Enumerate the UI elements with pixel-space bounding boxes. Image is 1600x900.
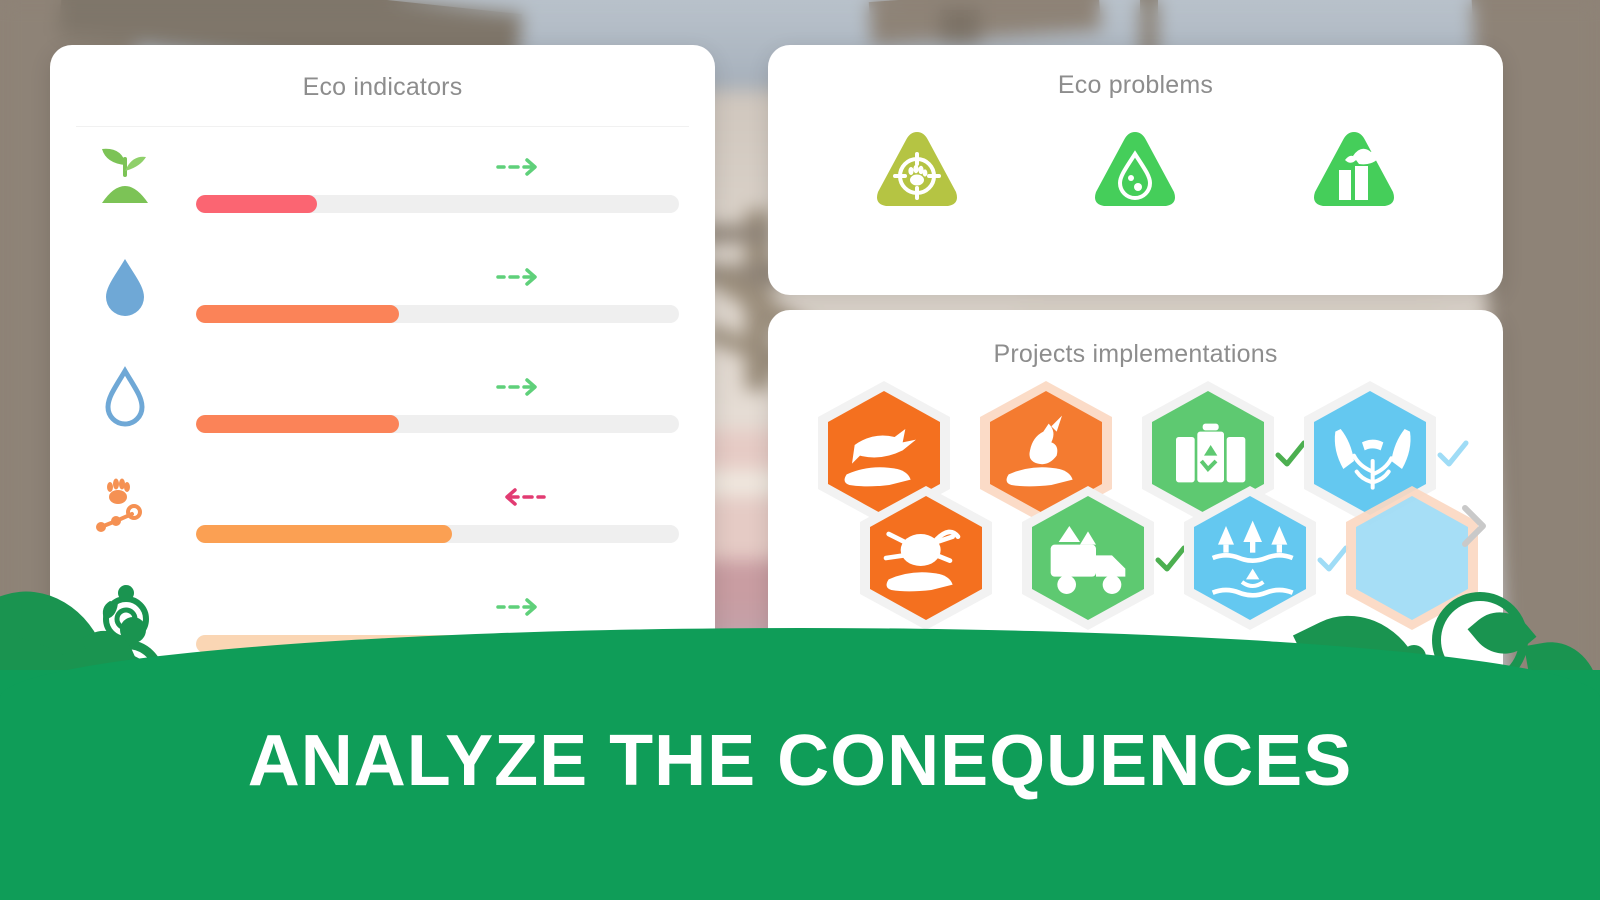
trend-arrow-right-icon <box>494 263 548 291</box>
fresh-water-icon <box>96 365 154 427</box>
eco-indicator-progress-track <box>196 415 679 433</box>
eco-indicator-progress-track <box>196 305 679 323</box>
project-complete-check-icon <box>1274 437 1308 471</box>
eco-indicator-row[interactable] <box>76 247 689 357</box>
project-complete-check-icon <box>1154 542 1188 576</box>
project-complete-check-icon <box>1436 437 1470 471</box>
water-drop-warning-icon <box>1040 126 1230 217</box>
eco-indicators-panel: Eco indicators <box>50 45 715 675</box>
eco-problem-item[interactable] <box>822 126 1012 225</box>
eco-indicator-row[interactable] <box>76 357 689 467</box>
eco-indicators-list <box>50 127 715 675</box>
project-tile[interactable] <box>1194 496 1306 620</box>
eco-indicators-title: Eco indicators <box>50 73 715 102</box>
trend-arrow-left-icon <box>494 483 548 511</box>
eco-indicator-progress-fill <box>196 415 399 433</box>
trend-arrow-right-icon <box>494 153 548 181</box>
eco-indicator-progress-fill <box>196 305 399 323</box>
project-complete-check-icon <box>1316 542 1350 576</box>
projects-title: Projects implementations <box>768 340 1503 369</box>
water-drop-icon <box>96 255 154 317</box>
project-tile[interactable] <box>870 496 982 620</box>
eco-indicator-row[interactable] <box>76 467 689 577</box>
factory-smokestack-icon <box>1259 126 1449 217</box>
eco-indicator-progress-track <box>196 525 679 543</box>
eco-indicator-progress-track <box>196 195 679 213</box>
poaching-target-paw-icon <box>822 126 1012 217</box>
eco-indicator-row[interactable] <box>76 137 689 247</box>
bottom-banner: ANALYZE THE CONEQUENCES <box>0 670 1600 900</box>
decor-leaf-right-c <box>1478 608 1528 662</box>
paw-track-icon <box>96 475 154 537</box>
eco-indicator-progress-fill <box>196 525 452 543</box>
eco-problem-item[interactable] <box>1040 126 1230 225</box>
banner-headline: ANALYZE THE CONEQUENCES <box>0 720 1600 802</box>
chevron-right-icon[interactable] <box>1457 500 1491 552</box>
trend-arrow-right-icon <box>494 373 548 401</box>
eco-problems-list <box>768 126 1503 225</box>
eco-problems-title: Eco problems <box>768 71 1503 100</box>
eco-problem-item[interactable] <box>1259 126 1449 225</box>
trend-arrow-right-icon <box>494 593 548 621</box>
eco-indicator-progress-fill <box>196 195 317 213</box>
sprout-icon <box>96 145 154 207</box>
eco-problems-panel: Eco problems <box>768 45 1503 295</box>
project-tile[interactable] <box>1032 496 1144 620</box>
